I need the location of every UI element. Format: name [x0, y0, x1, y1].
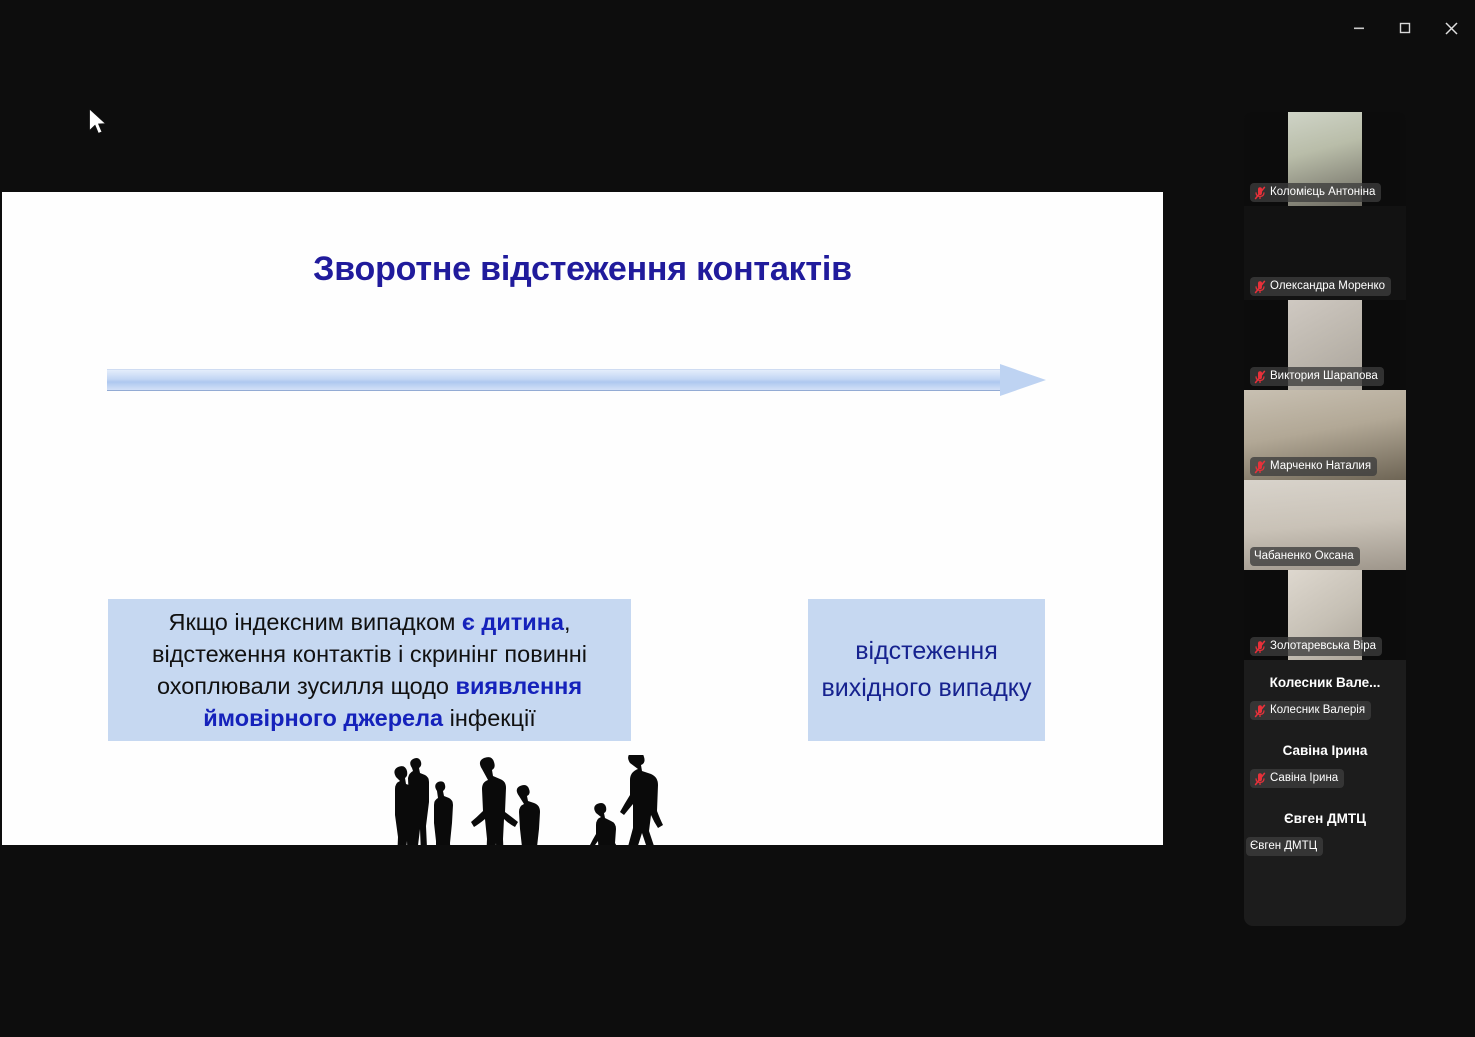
participant-display-name: Колесник Вале...: [1244, 674, 1406, 692]
maximize-icon: [1398, 21, 1412, 35]
participant-label: Чабаненко Оксана: [1250, 547, 1360, 566]
participant-tile[interactable]: Марченко Наталия: [1244, 390, 1406, 480]
left-text-box-content: Якщо індексним випадком є дитина, відсте…: [114, 606, 625, 734]
presentation-slide[interactable]: Зворотне відстеження контактів Якщо інде…: [2, 192, 1163, 845]
participant-label: Савіна Ірина: [1250, 769, 1344, 788]
arrow-body: [107, 369, 1002, 391]
mic-muted-icon: [1254, 370, 1266, 384]
participant-name: Колесник Валерія: [1270, 703, 1365, 718]
participant-label: Коломієць Антоніна: [1250, 183, 1381, 202]
participant-label: Золотаревська Віра: [1250, 637, 1382, 656]
zoom-meeting-window: Зворотне відстеження контактів Якщо інде…: [0, 0, 1475, 1037]
arrow-head-icon: [1000, 364, 1046, 396]
participant-tile[interactable]: Виктория Шарапова: [1244, 300, 1406, 390]
mic-muted-icon: [1254, 704, 1266, 718]
mic-muted-icon: [1254, 186, 1266, 200]
participant-tile[interactable]: Коломієць Антоніна: [1244, 112, 1406, 206]
timeline-arrow: [107, 364, 1047, 396]
participant-row[interactable]: Савіна Ірина Савіна Ірина: [1244, 728, 1406, 796]
maximize-button[interactable]: [1381, 0, 1429, 56]
participant-label: Колесник Валерія: [1250, 701, 1371, 720]
participants-panel[interactable]: Коломієць Антоніна Олександра Моренко: [1244, 112, 1406, 926]
participant-row[interactable]: Євген ДМТЦ Євген ДМТЦ: [1244, 796, 1406, 864]
participant-label: Євген ДМТЦ: [1246, 837, 1323, 856]
mic-muted-icon: [1254, 772, 1266, 786]
participant-name: Виктория Шарапова: [1270, 369, 1378, 384]
participant-name: Марченко Наталия: [1270, 459, 1371, 474]
window-titlebar: [0, 0, 1475, 56]
participant-name: Олександра Моренко: [1270, 279, 1385, 294]
close-button[interactable]: [1427, 0, 1475, 56]
minimize-button[interactable]: [1335, 0, 1383, 56]
participant-label: Марченко Наталия: [1250, 457, 1377, 476]
close-icon: [1444, 21, 1459, 36]
slide-title: Зворотне відстеження контактів: [2, 250, 1163, 289]
families-silhouettes-image: [372, 755, 684, 845]
participant-display-name: Савіна Ірина: [1244, 742, 1406, 760]
mic-muted-icon: [1254, 280, 1266, 294]
right-text-box: відстеження вихідного випадку: [808, 599, 1045, 741]
participant-display-name: Євген ДМТЦ: [1244, 810, 1406, 828]
left-text-box: Якщо індексним випадком є дитина, відсте…: [108, 599, 631, 741]
participant-label: Виктория Шарапова: [1250, 367, 1384, 386]
participant-tile-active[interactable]: Чабаненко Оксана: [1244, 480, 1406, 570]
participant-name: Савіна Ірина: [1270, 771, 1338, 786]
participant-row[interactable]: Колесник Вале... Колесник Валерія: [1244, 660, 1406, 728]
minimize-icon: [1352, 21, 1366, 35]
participant-name: Євген ДМТЦ: [1250, 839, 1317, 854]
participant-name: Чабаненко Оксана: [1254, 549, 1354, 564]
participant-tile[interactable]: Золотаревська Віра: [1244, 570, 1406, 660]
mouse-cursor: [88, 108, 110, 138]
participant-name: Золотаревська Віра: [1270, 639, 1376, 654]
right-text-box-content: відстеження вихідного випадку: [808, 633, 1045, 707]
mic-muted-icon: [1254, 640, 1266, 654]
mic-muted-icon: [1254, 460, 1266, 474]
participant-tile[interactable]: Олександра Моренко: [1244, 206, 1406, 300]
participant-label: Олександра Моренко: [1250, 277, 1391, 296]
participant-name: Коломієць Антоніна: [1270, 185, 1375, 200]
